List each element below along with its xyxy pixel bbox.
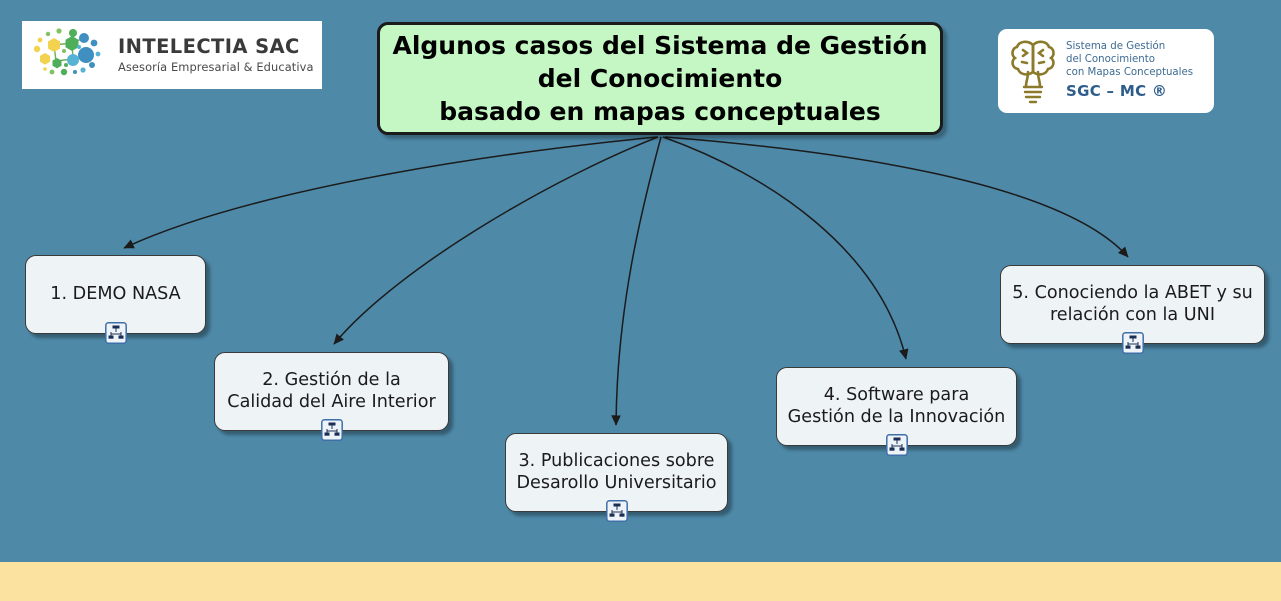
intelectia-tagline: Asesoría Empresarial & Educativa: [118, 61, 314, 74]
concept-map-icon[interactable]: [606, 500, 628, 522]
concept-map-icon[interactable]: [1122, 332, 1144, 354]
concept-node-1[interactable]: 1. DEMO NASA: [25, 255, 206, 334]
concept-node-4[interactable]: 4. Software para Gestión de la Innovació…: [776, 367, 1017, 446]
concept-node-2-label: 2. Gestión de la Calidad del Aire Interi…: [219, 370, 443, 414]
sgc-line-2: del Conocimiento: [1066, 53, 1193, 66]
concept-map-canvas: INTELECTIA SAC Asesoría Empresarial & Ed…: [0, 0, 1281, 601]
connector-to-node-3: [616, 137, 661, 425]
concept-node-5[interactable]: 5. Conociendo la ABET y su relación con …: [1000, 265, 1265, 344]
intelectia-name: INTELECTIA SAC: [118, 36, 314, 57]
connector-to-node-4: [663, 137, 906, 359]
brain-lightbulb-icon: [1006, 36, 1060, 106]
concept-node-3[interactable]: 3. Publicaciones sobre Desarollo Univers…: [505, 433, 728, 512]
sgc-mc-brand: SGC – MC ®: [1066, 82, 1193, 101]
sgc-line-3: con Mapas Conceptuales: [1066, 66, 1193, 79]
title-box: Algunos casos del Sistema de Gestión del…: [377, 22, 943, 135]
connector-to-node-1: [124, 137, 657, 248]
concept-node-5-label: 5. Conociendo la ABET y su relación con …: [1004, 283, 1261, 327]
concept-node-3-label: 3. Publicaciones sobre Desarollo Univers…: [508, 451, 724, 495]
bottom-accent-strip: [0, 562, 1281, 601]
connector-to-node-5: [665, 137, 1128, 257]
sgc-mc-logo: Sistema de Gestión del Conocimiento con …: [998, 29, 1214, 113]
intelectia-logo-text: INTELECTIA SAC Asesoría Empresarial & Ed…: [118, 36, 314, 74]
concept-map-icon[interactable]: [321, 419, 343, 441]
concept-node-4-label: 4. Software para Gestión de la Innovació…: [780, 385, 1014, 429]
concept-node-2[interactable]: 2. Gestión de la Calidad del Aire Interi…: [214, 352, 449, 431]
sgc-mc-logo-text: Sistema de Gestión del Conocimiento con …: [1066, 40, 1193, 101]
concept-map-icon[interactable]: [886, 434, 908, 456]
sgc-line-1: Sistema de Gestión: [1066, 40, 1193, 53]
brain-network-icon: [28, 25, 114, 85]
intelectia-logo: INTELECTIA SAC Asesoría Empresarial & Ed…: [22, 21, 322, 89]
concept-node-1-label: 1. DEMO NASA: [42, 284, 188, 306]
page-title: Algunos casos del Sistema de Gestión del…: [380, 29, 939, 128]
connector-to-node-2: [334, 137, 658, 344]
concept-map-icon[interactable]: [105, 322, 127, 344]
